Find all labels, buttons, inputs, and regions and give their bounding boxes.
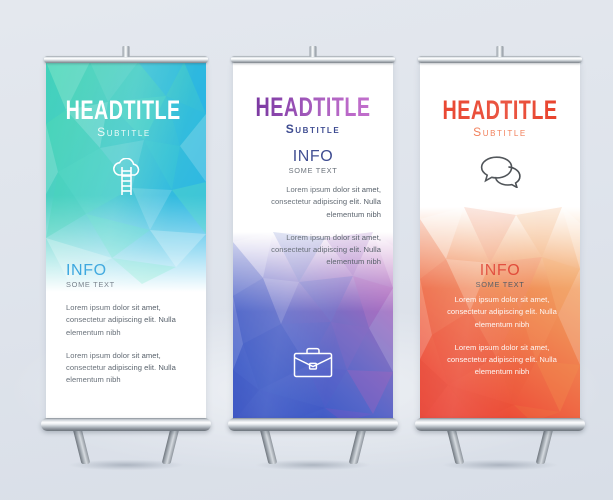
body-paragraph: Lorem ipsum dolor sit amet, consectetur … xyxy=(251,184,381,221)
speech-bubbles-icon xyxy=(420,154,580,188)
info-block: INFO SOME TEXT xyxy=(233,148,393,175)
body-paragraph: Lorem ipsum dolor sit amet, consectetur … xyxy=(436,342,568,379)
banner-print-surface-1: HEADTITLE Subtitle INFO SOME TEXT xyxy=(46,62,206,422)
banner-subtitle: Subtitle xyxy=(233,122,393,136)
base-cassette xyxy=(415,418,585,431)
banner-headline: HEADTITLE xyxy=(51,97,201,124)
body-paragraph: Lorem ipsum dolor sit amet, consectetur … xyxy=(436,294,568,331)
paragraph-block: Lorem ipsum dolor sit amet, consectetur … xyxy=(436,294,568,379)
banner-stand-2[interactable]: HEADTITLE Subtitle INFO SOME TEXT Lorem … xyxy=(233,46,393,460)
info-heading: INFO xyxy=(420,262,580,280)
ground-shadow xyxy=(426,458,574,472)
banner-print-surface-2: HEADTITLE Subtitle INFO SOME TEXT Lorem … xyxy=(233,62,393,422)
banner-stand-1[interactable]: HEADTITLE Subtitle INFO SOME TEXT xyxy=(46,46,206,460)
banner-stand-3[interactable]: HEADTITLE Subtitle INFO SOME TEXT Lorem … xyxy=(420,46,580,460)
top-hook-icon xyxy=(310,46,317,57)
paragraph-block: Lorem ipsum dolor sit amet, consectetur … xyxy=(251,184,381,269)
top-hook-icon xyxy=(497,46,504,57)
cloud-ladder-icon xyxy=(46,158,206,198)
banner-subtitle: Subtitle xyxy=(420,125,580,139)
banner-headline: HEADTITLE xyxy=(425,97,575,124)
info-heading: INFO xyxy=(66,262,194,280)
ground-shadow xyxy=(52,458,200,472)
body-paragraph: Lorem ipsum dolor sit amet, consectetur … xyxy=(66,302,194,339)
top-rail xyxy=(418,56,582,63)
body-paragraph: Lorem ipsum dolor sit amet, consectetur … xyxy=(251,232,381,269)
briefcase-icon xyxy=(233,346,393,378)
info-subheading: SOME TEXT xyxy=(233,166,393,175)
top-rail xyxy=(231,56,395,63)
base-cassette xyxy=(228,418,398,431)
base-cassette xyxy=(41,418,211,431)
ground-shadow xyxy=(239,458,387,472)
info-block: INFO SOME TEXT Lorem ipsum dolor sit ame… xyxy=(66,262,194,387)
top-rail xyxy=(44,56,208,63)
banner-subtitle: Subtitle xyxy=(46,125,206,139)
banner-headline: HEADTITLE xyxy=(238,94,388,121)
info-subheading: SOME TEXT xyxy=(420,280,580,289)
body-paragraph: Lorem ipsum dolor sit amet, consectetur … xyxy=(66,350,194,387)
banner-stage: HEADTITLE Subtitle INFO SOME TEXT xyxy=(0,0,613,500)
info-heading: INFO xyxy=(233,148,393,166)
info-block: INFO SOME TEXT xyxy=(420,262,580,289)
top-hook-icon xyxy=(123,46,130,57)
info-subheading: SOME TEXT xyxy=(66,280,194,289)
banner-print-surface-3: HEADTITLE Subtitle INFO SOME TEXT Lorem … xyxy=(420,62,580,422)
